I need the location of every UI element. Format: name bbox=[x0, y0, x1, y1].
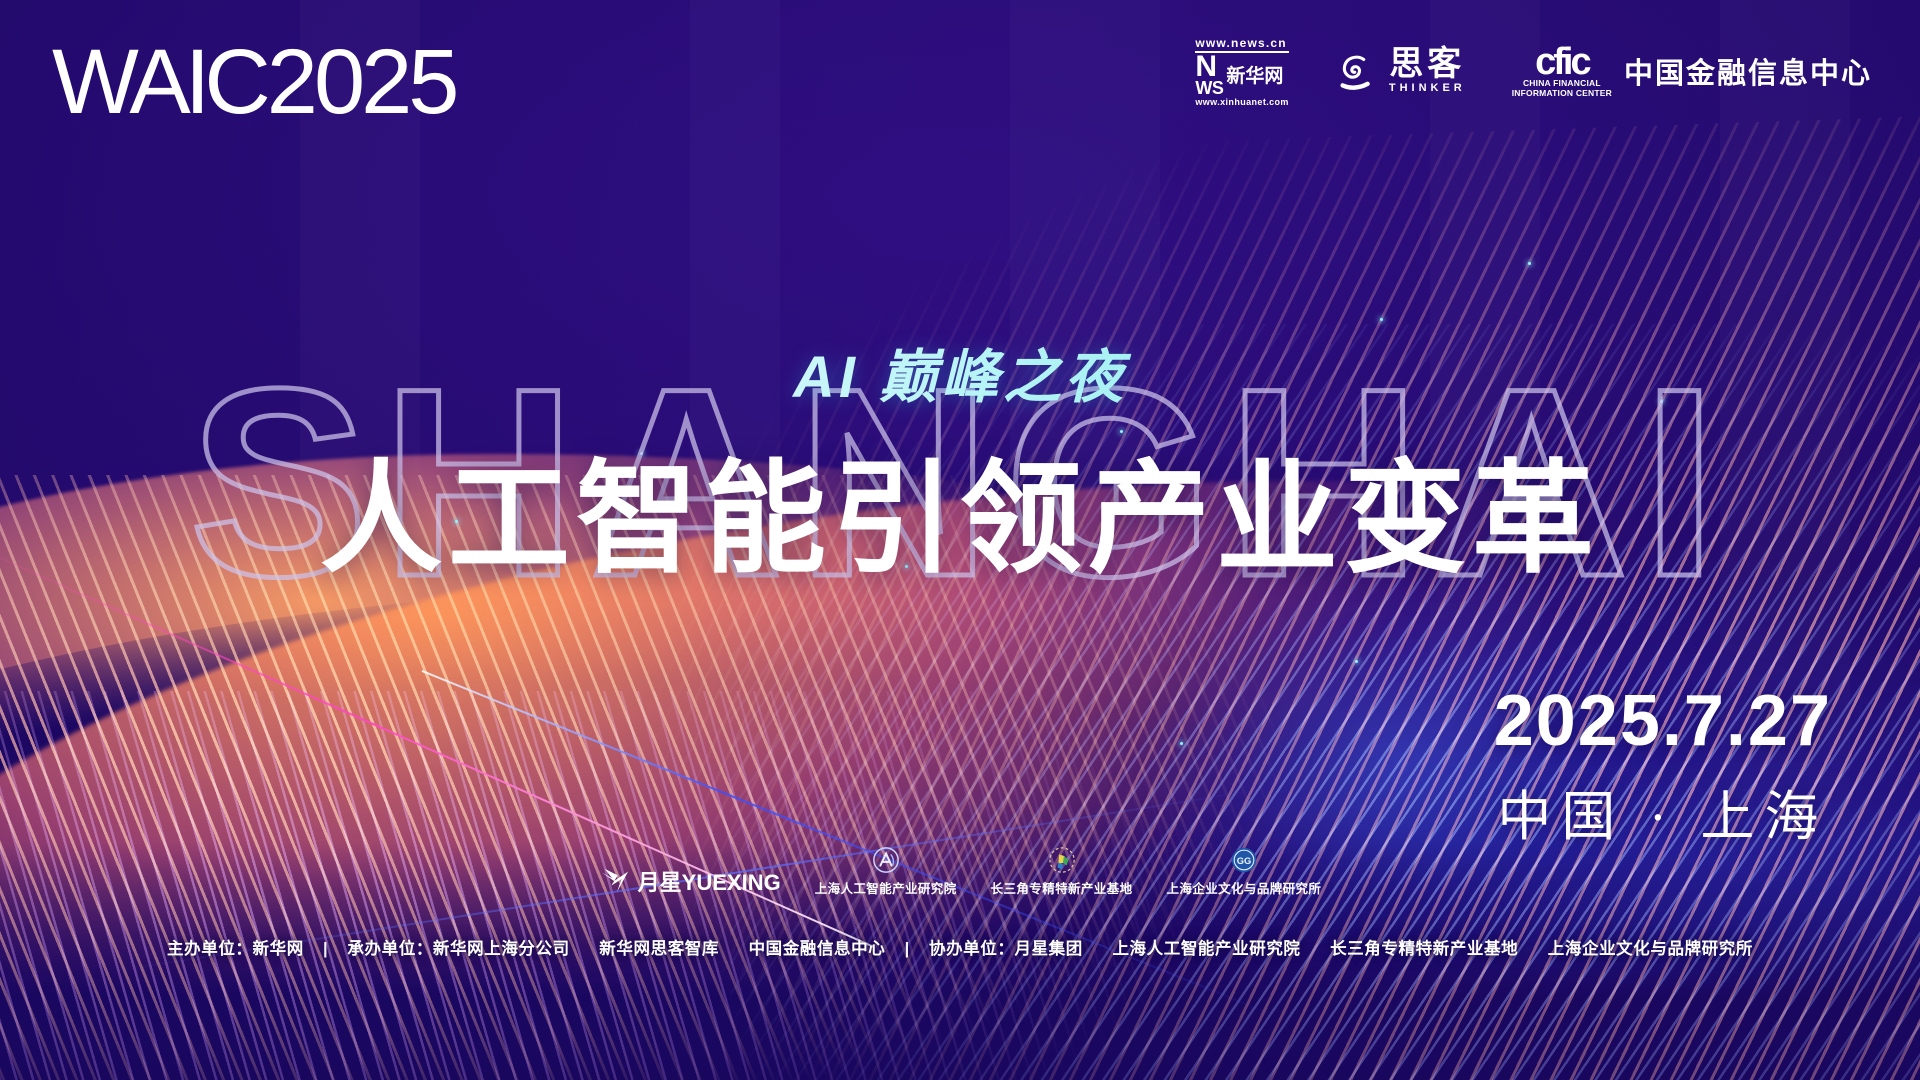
sponsor-logo-brand-institute: GG 上海企业文化与品牌研究所 bbox=[1167, 845, 1322, 897]
sponsor-name-ai-institute: 上海人工智能产业研究院 bbox=[815, 878, 957, 897]
header-logo-group: www.news.cn N WS 新华网 www.xinhuanet.com 思… bbox=[1195, 36, 1872, 107]
event-subtitle: AI 巅峰之夜 bbox=[0, 330, 1920, 414]
credit-separator-2: | bbox=[891, 940, 924, 958]
event-poster: SHANGHAI WAIC2025 www.news.cn N WS 新华网 w… bbox=[0, 0, 1920, 1080]
xinhua-n-glyph: N bbox=[1195, 54, 1223, 80]
event-date: 2025.7.27 bbox=[1494, 680, 1832, 762]
credit-coorganizer-2: 上海人工智能产业研究院 bbox=[1112, 940, 1300, 958]
event-headline: 人工智能引领产业变革 bbox=[0, 420, 1920, 597]
sponsor-name-yangtze-base: 长三角专精特新产业基地 bbox=[991, 878, 1133, 897]
cfic-zh-name: 中国金融信息中心 bbox=[1624, 50, 1872, 92]
credit-coorganizer-3: 长三角专精特新产业基地 bbox=[1330, 940, 1518, 958]
credit-coorganizer: 协办单位：月星集团 bbox=[929, 940, 1083, 958]
thinker-swirl-icon bbox=[1335, 48, 1381, 94]
xinhua-url-top: www.news.cn bbox=[1195, 36, 1286, 50]
event-location: 中国 · 上海 bbox=[1494, 772, 1832, 851]
sponsor-name-brand-institute: 上海企业文化与品牌研究所 bbox=[1167, 878, 1322, 897]
waic-logo: WAIC2025 bbox=[52, 30, 455, 135]
waic-logo-prefix: WAIC bbox=[52, 30, 265, 135]
sponsor-logo-yuexing: 月星YUEXING bbox=[599, 865, 781, 897]
svg-text:GG: GG bbox=[1237, 856, 1252, 866]
credit-coorganizer-4: 上海企业文化与品牌研究所 bbox=[1548, 940, 1753, 958]
credit-organizer: 承办单位：新华网上海分公司 bbox=[347, 940, 569, 958]
sponsor-logo-ai-institute: 上海人工智能产业研究院 bbox=[815, 845, 957, 897]
credit-organizer-2: 新华网思客智库 bbox=[599, 940, 719, 958]
xinhua-ws-glyph: WS bbox=[1195, 80, 1223, 96]
event-date-block: 2025.7.27 中国 · 上海 bbox=[1494, 680, 1832, 851]
sponsor-logo-strip: 月星YUEXING 上海人工智能产业研究院 长三角 bbox=[0, 845, 1920, 897]
yangtze-base-icon bbox=[1048, 845, 1076, 875]
thinker-logo: 思客 THINKER bbox=[1335, 48, 1466, 94]
brand-institute-icon: GG bbox=[1230, 845, 1258, 875]
credits-line: 主办单位：新华网 | 承办单位：新华网上海分公司 新华网思客智库 中国金融信息中… bbox=[0, 935, 1920, 959]
thinker-cjk-name: 思客 bbox=[1389, 48, 1465, 82]
xinhua-cn-name: 新华网 bbox=[1226, 61, 1283, 88]
credit-separator-1: | bbox=[309, 940, 342, 958]
yuexing-star-icon bbox=[599, 866, 631, 896]
xinhua-news-logo: www.news.cn N WS 新华网 www.xinhuanet.com bbox=[1195, 36, 1288, 107]
credit-organizer-3: 中国金融信息中心 bbox=[749, 940, 886, 958]
sponsor-logo-yangtze-base: 长三角专精特新产业基地 bbox=[991, 845, 1133, 897]
ai-institute-icon bbox=[872, 845, 900, 875]
cfic-sub-line2: INFORMATION CENTER bbox=[1512, 89, 1612, 99]
thinker-en-name: THINKER bbox=[1389, 82, 1466, 94]
cfic-abbr: cfic bbox=[1535, 45, 1588, 79]
credit-host: 主办单位：新华网 bbox=[167, 940, 304, 958]
sponsor-name-yuexing: 月星YUEXING bbox=[638, 865, 781, 897]
waic-logo-year: 2025 bbox=[267, 30, 456, 135]
cfic-logo: cfic CHINA FINANCIAL INFORMATION CENTER … bbox=[1512, 45, 1872, 99]
xinhua-url-bottom: www.xinhuanet.com bbox=[1195, 97, 1288, 107]
